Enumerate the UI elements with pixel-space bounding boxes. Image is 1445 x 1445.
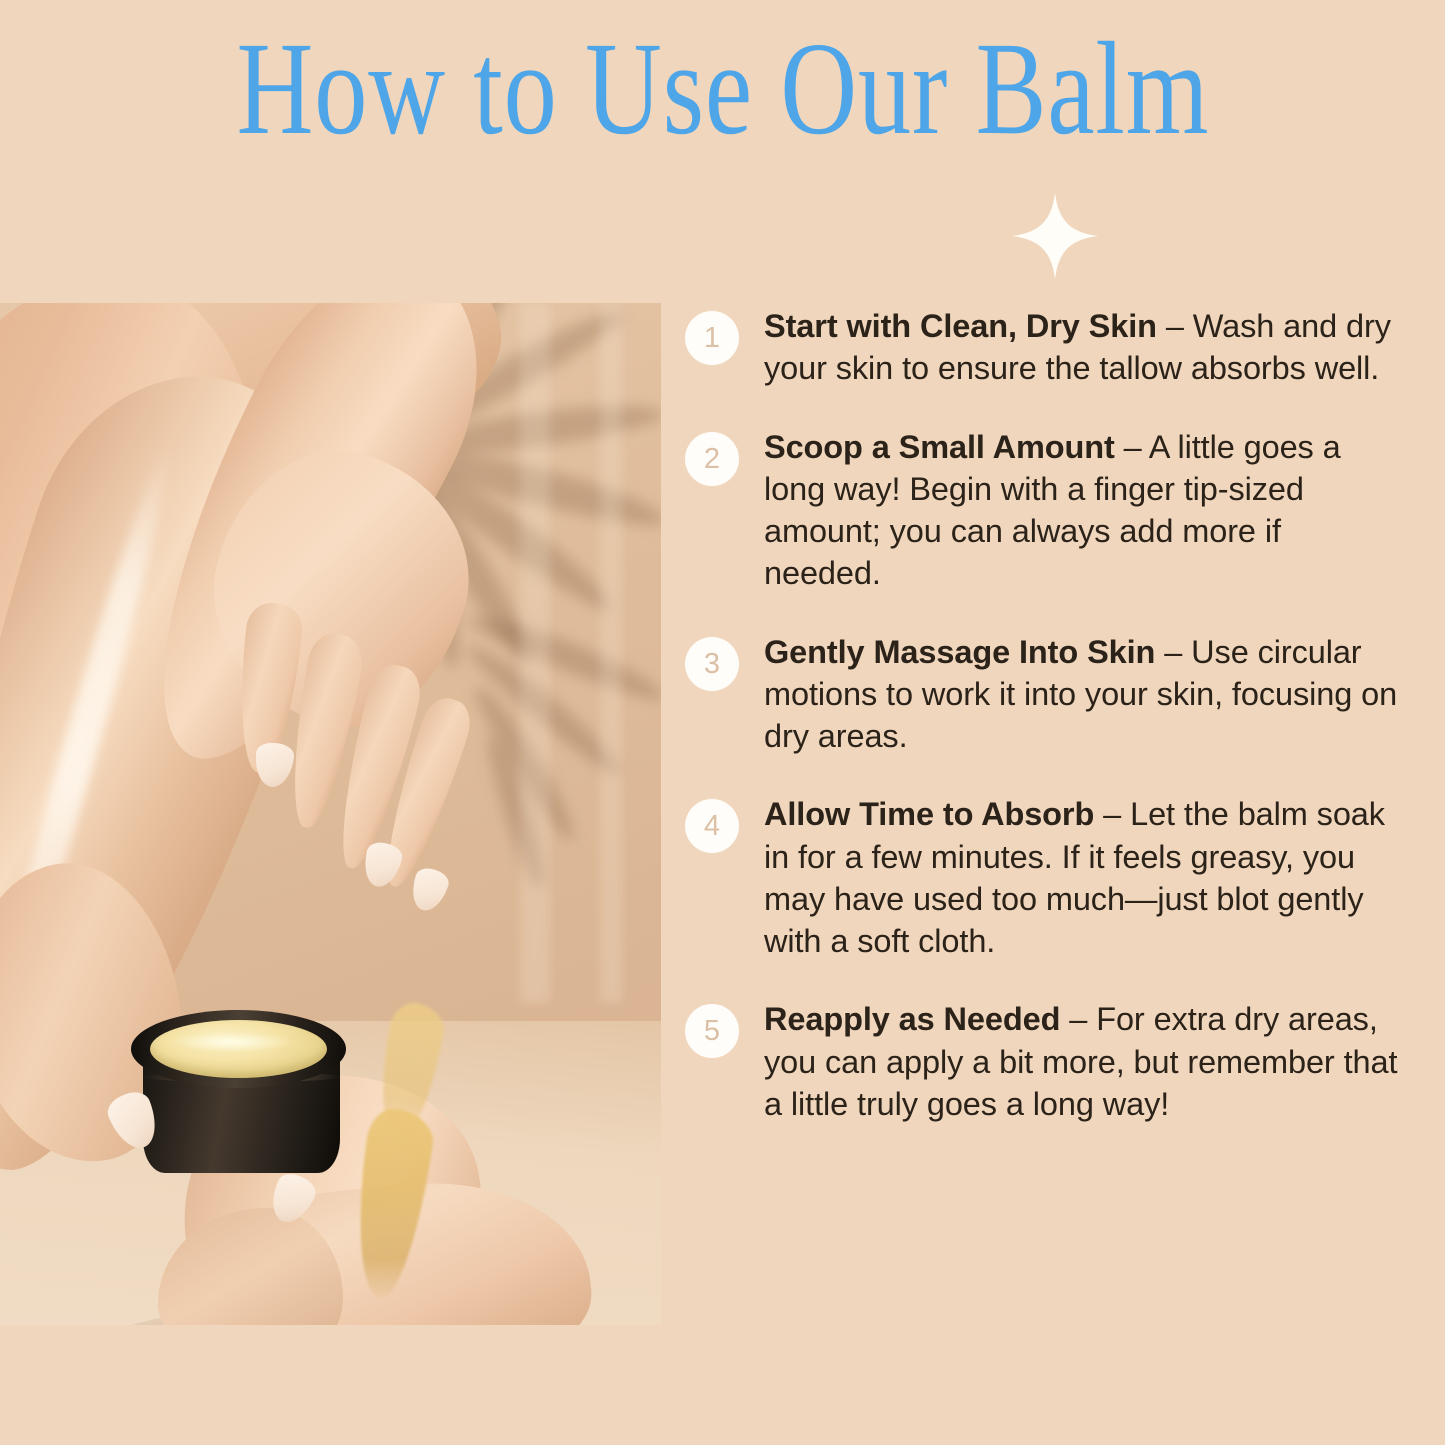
sparkle-icon xyxy=(1012,193,1098,284)
step-heading: Allow Time to Absorb xyxy=(764,796,1094,832)
step-text: Start with Clean, Dry Skin – Wash and dr… xyxy=(764,305,1403,390)
step-number-badge: 4 xyxy=(685,799,739,853)
step-number-badge: 1 xyxy=(685,311,739,365)
balm-gloss-highlight xyxy=(172,1032,292,1052)
step-heading: Start with Clean, Dry Skin xyxy=(764,308,1157,344)
step-dash: – xyxy=(1155,634,1191,670)
step-text: Allow Time to Absorb – Let the balm soak… xyxy=(764,793,1403,962)
step-item: 1 Start with Clean, Dry Skin – Wash and … xyxy=(685,305,1403,390)
step-number-badge: 2 xyxy=(685,432,739,486)
step-item: 3 Gently Massage Into Skin – Use circula… xyxy=(685,631,1403,758)
step-heading: Reapply as Needed xyxy=(764,1001,1060,1037)
infographic-page: How to Use Our Balm xyxy=(0,0,1445,1445)
step-heading: Scoop a Small Amount xyxy=(764,429,1115,465)
title-bar: How to Use Our Balm xyxy=(0,0,1445,185)
step-item: 4 Allow Time to Absorb – Let the balm so… xyxy=(685,793,1403,962)
product-photo xyxy=(0,303,661,1325)
step-dash: – xyxy=(1094,796,1130,832)
step-text: Reapply as Needed – For extra dry areas,… xyxy=(764,998,1403,1125)
page-title: How to Use Our Balm xyxy=(236,22,1209,163)
step-heading: Gently Massage Into Skin xyxy=(764,634,1155,670)
step-dash: – xyxy=(1157,308,1193,344)
step-item: 2 Scoop a Small Amount – A little goes a… xyxy=(685,426,1403,595)
wall-light-stripe xyxy=(600,303,622,1003)
step-text: Scoop a Small Amount – A little goes a l… xyxy=(764,426,1403,595)
step-text: Gently Massage Into Skin – Use circular … xyxy=(764,631,1403,758)
step-number-badge: 5 xyxy=(685,1004,739,1058)
step-dash: – xyxy=(1060,1001,1096,1037)
wall-light-stripe xyxy=(520,303,550,1003)
step-dash: – xyxy=(1115,429,1149,465)
step-item: 5 Reapply as Needed – For extra dry area… xyxy=(685,998,1403,1125)
step-number-badge: 3 xyxy=(685,637,739,691)
steps-list: 1 Start with Clean, Dry Skin – Wash and … xyxy=(685,305,1403,1161)
